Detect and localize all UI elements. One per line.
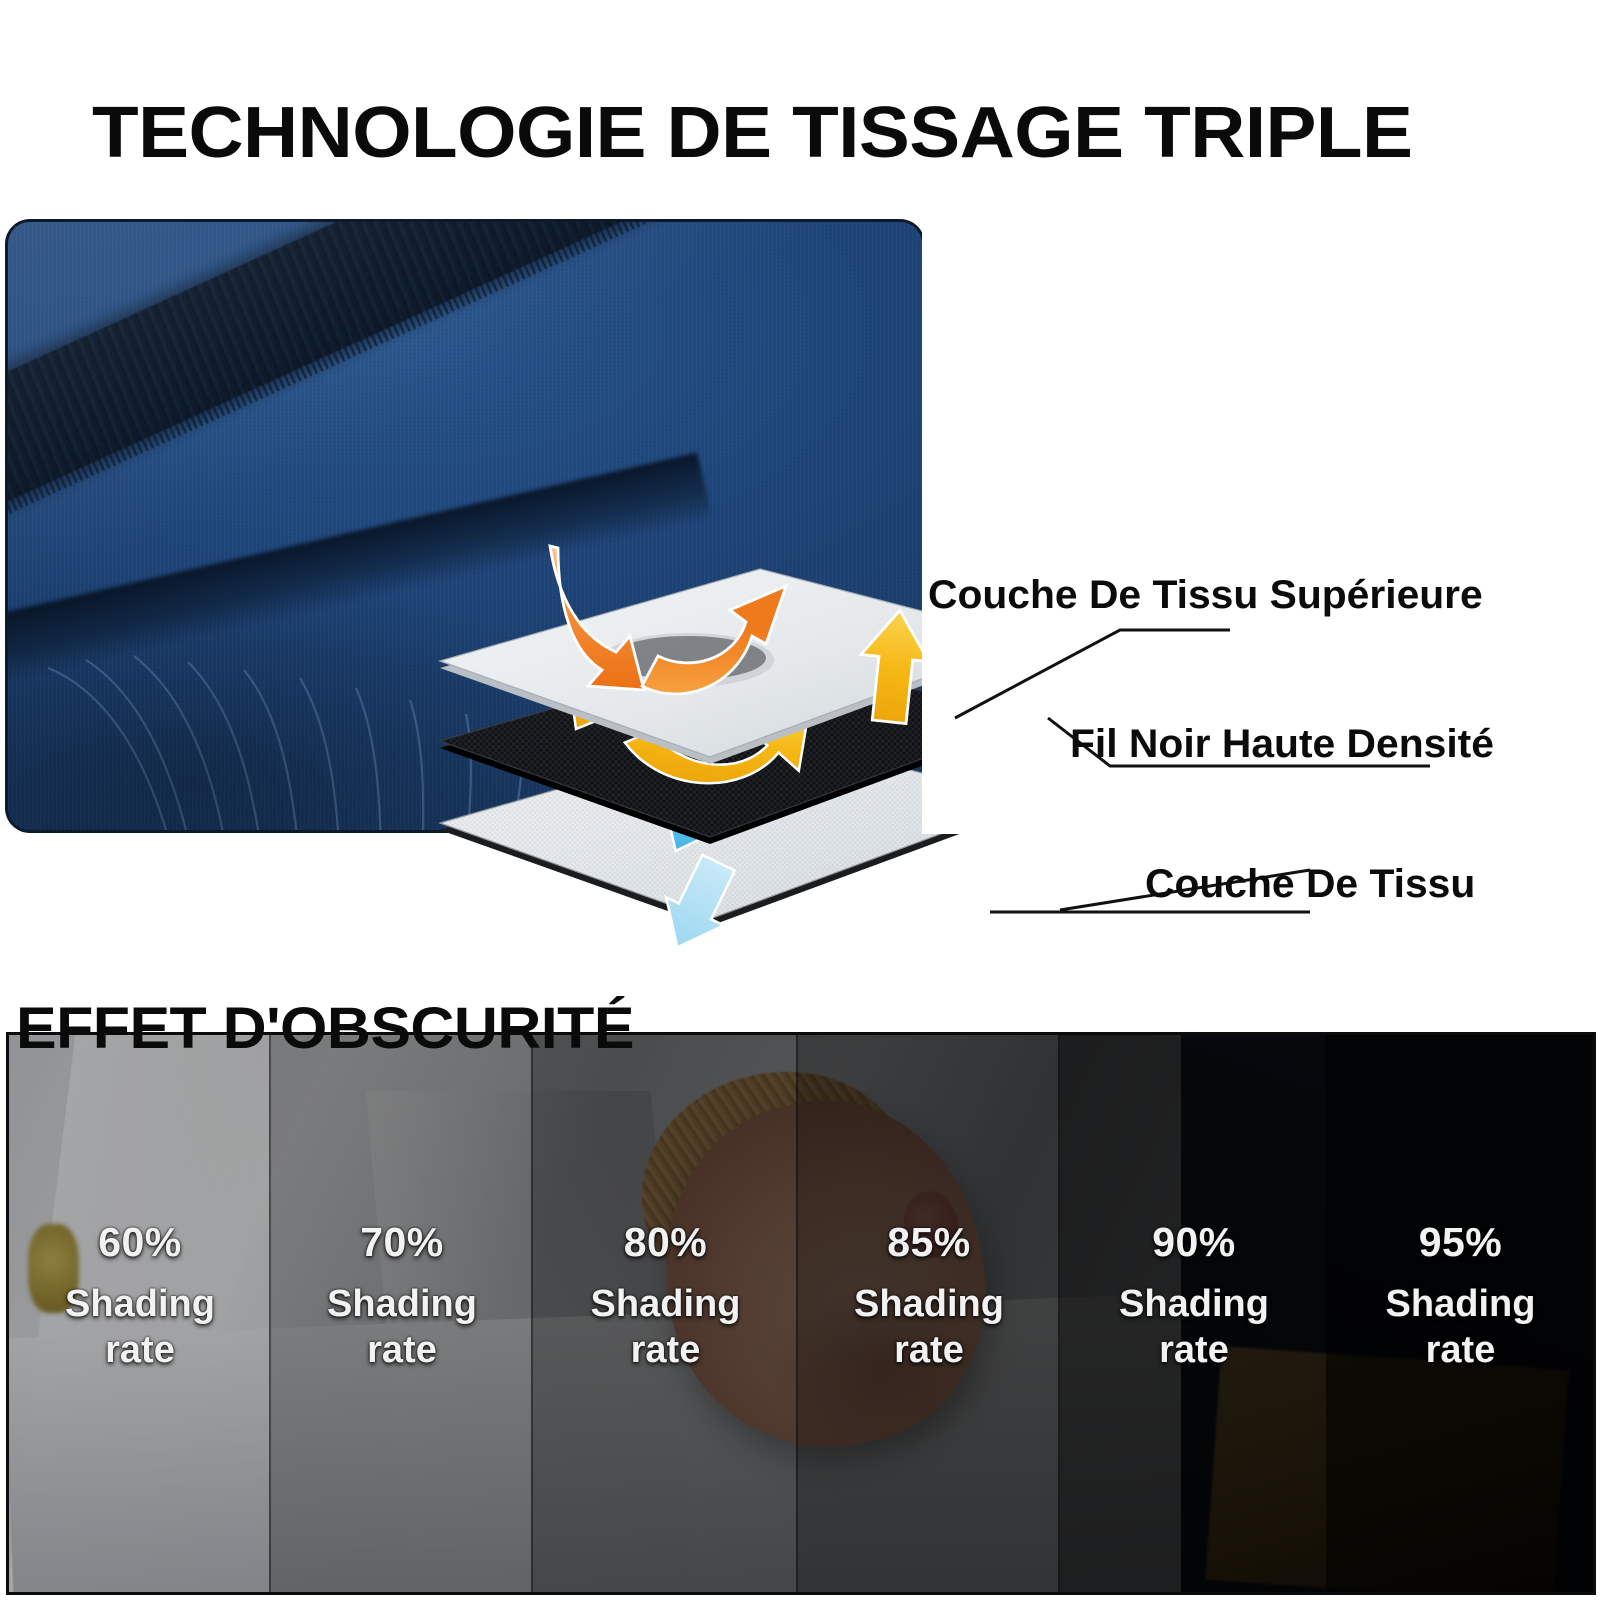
shading-overlay — [271, 1035, 533, 1592]
section-title-blackout: EFFET D'OBSCURITÉ — [16, 995, 634, 1063]
callout-black-yarn-layer: Fil Noir Haute Densité — [1070, 722, 1494, 767]
callout-bottom-fabric-layer: Couche De Tissu — [1145, 862, 1475, 907]
shading-overlay — [798, 1035, 1060, 1592]
shading-panel[interactable]: 60% Shading rate — [9, 1035, 271, 1592]
callout-top-fabric-layer: Couche De Tissu Supérieure — [928, 573, 1483, 618]
page-title: TECHNOLOGIE DE TISSAGE TRIPLE — [92, 90, 1412, 176]
shading-rate-comparison-strip: 60% Shading rate 70% Shading rate — [6, 1032, 1596, 1595]
shading-overlay — [533, 1035, 798, 1592]
shading-panel[interactable]: 95% Shading rate — [1328, 1035, 1593, 1592]
shading-panel[interactable]: 90% Shading rate — [1060, 1035, 1328, 1592]
shading-overlay — [1060, 1035, 1328, 1592]
shading-panel[interactable]: 85% Shading rate — [798, 1035, 1060, 1592]
shading-panel[interactable]: 80% Shading rate — [533, 1035, 798, 1592]
shading-panel[interactable]: 70% Shading rate — [271, 1035, 533, 1592]
shading-overlay — [1328, 1035, 1593, 1592]
shading-overlay — [9, 1035, 271, 1592]
